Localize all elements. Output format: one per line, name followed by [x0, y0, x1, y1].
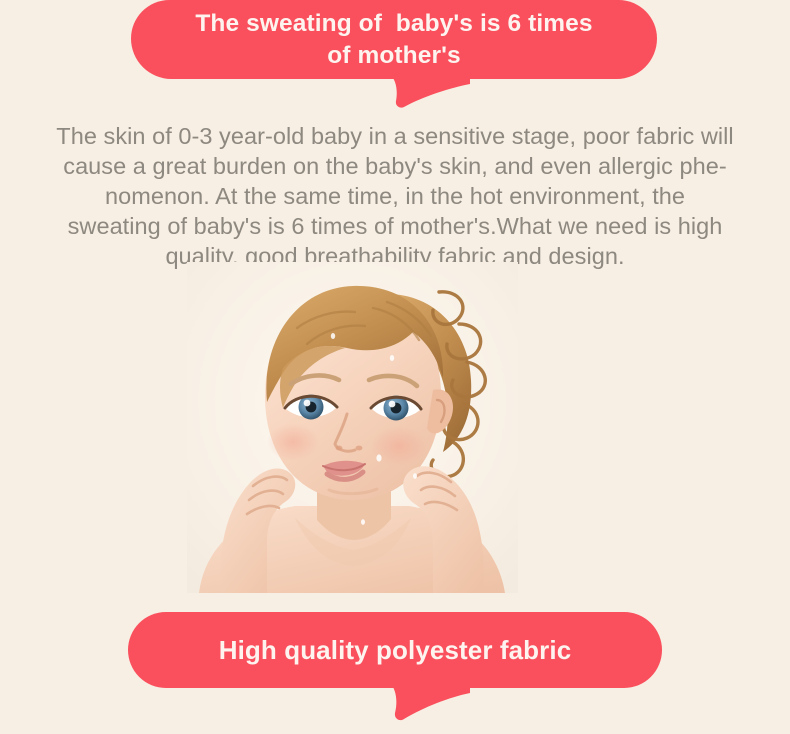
- product-description-page: The sweating of baby's is 6 times of mot…: [0, 0, 790, 734]
- top-banner-line-2: of mother's: [327, 42, 461, 69]
- baby-photo-illustration: [187, 262, 518, 593]
- baby-photo: [187, 262, 518, 593]
- paragraph-line: nomenon. At the same time, in the hot en…: [30, 181, 760, 211]
- paragraph-line: The skin of 0-3 year-old baby in a sensi…: [30, 121, 760, 151]
- paragraph-line: cause a great burden on the baby's skin,…: [30, 151, 760, 181]
- top-speech-banner: The sweating of baby's is 6 times of mot…: [131, 0, 657, 108]
- bottom-banner-bubble: High quality polyester fabric: [128, 612, 662, 688]
- bottom-banner-line-1: High quality polyester fabric: [219, 633, 572, 667]
- top-banner-text-block: The sweating of baby's is 6 times of mot…: [195, 8, 592, 72]
- top-banner-line-1: The sweating of baby's is 6 times: [195, 10, 592, 37]
- paragraph-line: sweating of baby's is 6 times of mother'…: [30, 211, 760, 241]
- description-paragraph: The skin of 0-3 year-old baby in a sensi…: [30, 121, 760, 271]
- bottom-speech-banner: High quality polyester fabric: [128, 612, 662, 722]
- top-banner-bubble: The sweating of baby's is 6 times of mot…: [131, 0, 657, 79]
